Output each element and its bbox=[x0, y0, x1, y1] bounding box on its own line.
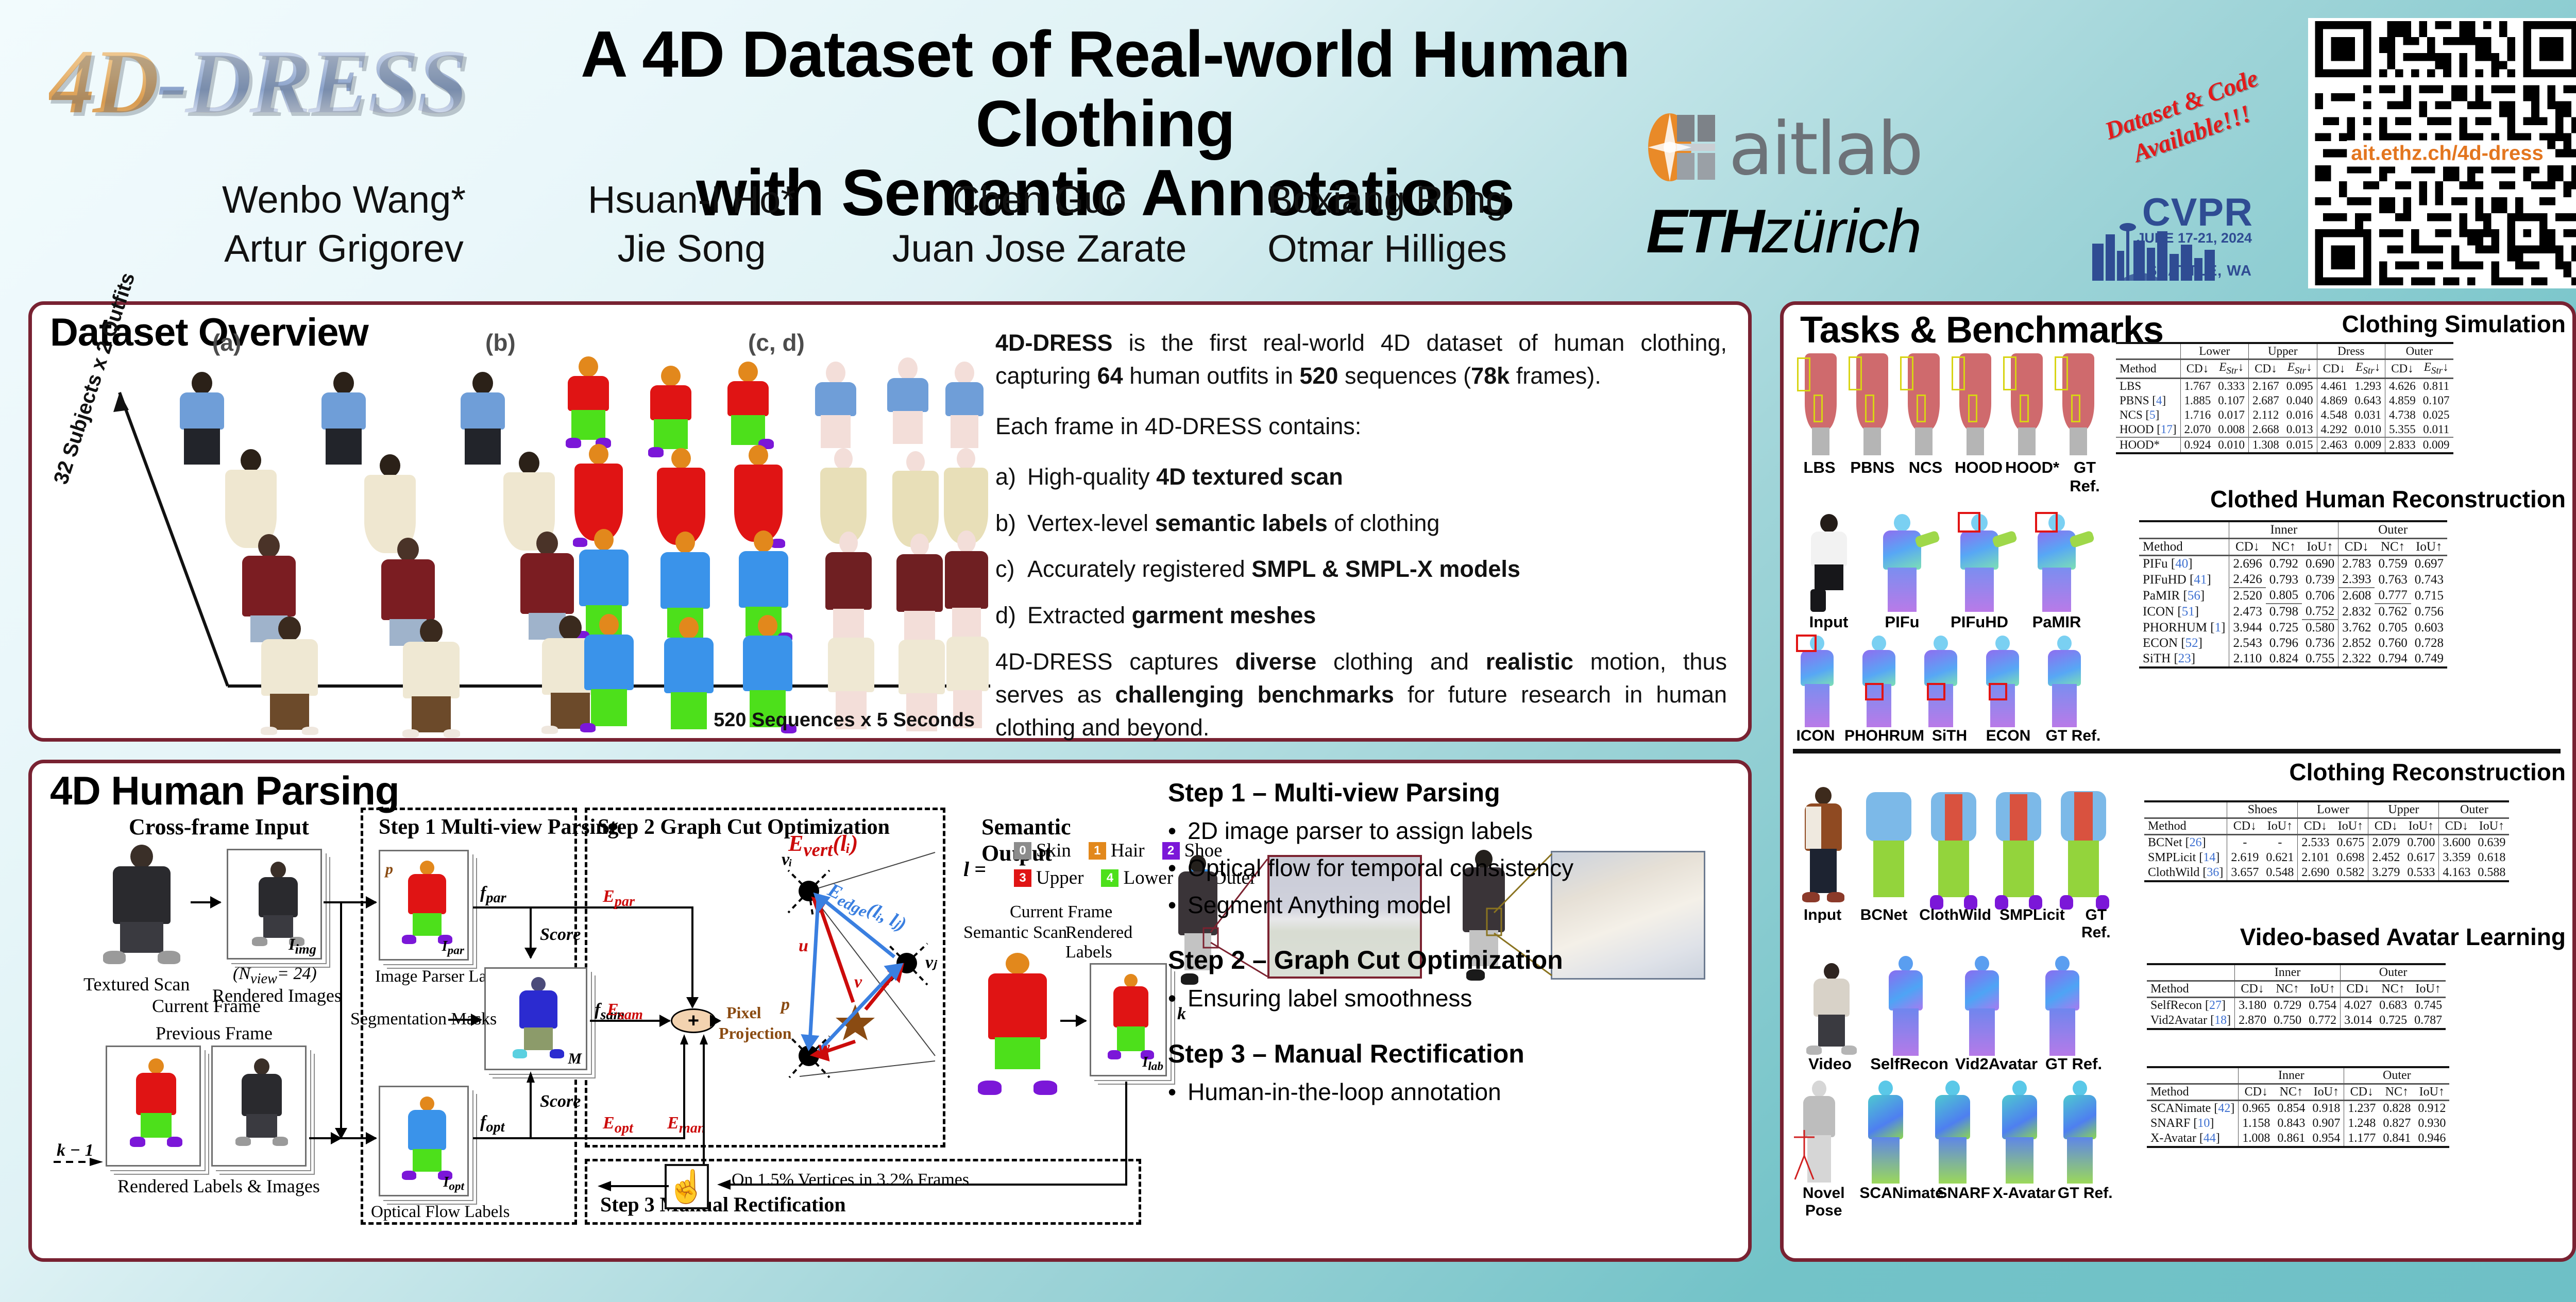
dress-sim-figure bbox=[2053, 345, 2104, 456]
cell: 2.690 bbox=[2298, 865, 2333, 881]
cr-figure-strip bbox=[1793, 784, 2112, 907]
title-line-1: A 4D Dataset of Real-world Human Clothin… bbox=[572, 20, 1638, 158]
bullet: Ensuring label smoothness bbox=[1168, 983, 1745, 1014]
table-row: ECON [52] 2.5430.7960.736 2.8520.7600.72… bbox=[2139, 636, 2447, 651]
val-figure-strip-top bbox=[1794, 948, 2103, 1056]
dress-sim-figure bbox=[1846, 345, 1898, 456]
cell: 2.783 bbox=[2338, 556, 2375, 572]
metric-header: CD↓ bbox=[2229, 539, 2266, 556]
cell: 2.167 bbox=[2249, 378, 2283, 393]
cell: 0.794 bbox=[2375, 651, 2411, 667]
cell: 0.698 bbox=[2333, 850, 2368, 865]
metric-header: CD↓ bbox=[2180, 359, 2214, 379]
overview-sequence-label: 520 Sequences x 5 Seconds bbox=[714, 709, 975, 731]
f-opt-score-arrow bbox=[527, 1071, 537, 1139]
cell: 3.359 bbox=[2439, 850, 2475, 865]
table-row: X-Avatar [44] 1.0080.8610.954 1.1770.841… bbox=[2147, 1131, 2449, 1147]
group-header: Outer bbox=[2344, 1067, 2450, 1084]
cell: 0.930 bbox=[2414, 1116, 2449, 1131]
cell: 1.237 bbox=[2344, 1101, 2380, 1117]
step-title: Step 1 – Multi-view Parsing bbox=[1168, 778, 1745, 808]
step-bullets: 2D image parser to assign labels Optical… bbox=[1168, 816, 1745, 920]
eth-italic: zürich bbox=[1762, 197, 1921, 266]
cell: 4.461 bbox=[2317, 378, 2351, 393]
cursor-hand-icon[interactable]: ☝ bbox=[665, 1164, 709, 1209]
method-cell: HOOD* bbox=[2116, 437, 2180, 453]
figure-semantic bbox=[717, 362, 779, 454]
arrow-to-cursor bbox=[598, 1179, 670, 1193]
strip-label: GT Ref. bbox=[2040, 1055, 2107, 1073]
val-gtref2-figure bbox=[2052, 1081, 2108, 1184]
cell: 2.463 bbox=[2317, 437, 2351, 453]
cell: 0.827 bbox=[2379, 1116, 2414, 1131]
list-item: d) Extracted garment meshes bbox=[995, 599, 1727, 632]
cr-input-figure bbox=[1795, 787, 1852, 905]
table-row: SMPLicit [14] 2.6190.621 2.1010.698 2.45… bbox=[2144, 850, 2509, 865]
cell: 0.040 bbox=[2283, 393, 2317, 408]
n-view-label: (Nview= 24) bbox=[233, 964, 317, 987]
step-bullets: Human-in-the-loop annotation bbox=[1168, 1077, 1745, 1108]
group-header: Lower bbox=[2180, 343, 2249, 359]
legend-label: Upper bbox=[1036, 867, 1083, 889]
semantic-scan-figure bbox=[974, 953, 1061, 1097]
overview-contains-header: Each frame in 4D-DRESS contains: bbox=[995, 410, 1727, 443]
cell: 0.690 bbox=[2302, 556, 2338, 572]
group-header: Inner bbox=[2235, 964, 2341, 981]
cell: 0.011 bbox=[2419, 422, 2453, 437]
metric-header: CD↓ bbox=[2439, 818, 2475, 835]
logo-4d-part: 4D bbox=[49, 30, 157, 132]
mask-figure bbox=[511, 977, 566, 1065]
method-cell: SiTH [23] bbox=[2139, 651, 2229, 667]
val-video-figure bbox=[1798, 963, 1865, 1056]
method-cell: BCNet [26] bbox=[2144, 835, 2227, 851]
chr-strip-labels-bottom: ICON PHOHRUM SiTH ECON GT Ref. bbox=[1787, 727, 2111, 745]
chr-icon-figure bbox=[1789, 636, 1845, 728]
parser-p-marker: p bbox=[385, 861, 393, 878]
author: Artur Grigorev bbox=[170, 227, 518, 270]
list-item: b) Vertex-level semantic labels of cloth… bbox=[995, 507, 1727, 540]
chr-pifu-figure bbox=[1866, 514, 1938, 612]
chr-pifuhd-figure bbox=[1943, 514, 2015, 612]
strip-label: GT Ref. bbox=[2039, 727, 2107, 745]
cell: 0.700 bbox=[2403, 835, 2439, 851]
cell: 2.110 bbox=[2229, 651, 2266, 667]
simulation-figure-strip bbox=[1793, 340, 2112, 458]
wire-Epar-to-sum bbox=[691, 906, 693, 1007]
method-cell: PIFuHD [41] bbox=[2139, 572, 2229, 588]
block-video-avatar-learning: Video-based Avatar Learning bbox=[1788, 923, 2571, 951]
block-heading: Clothed Human Reconstruction bbox=[1788, 485, 2571, 513]
cell: 2.608 bbox=[2338, 588, 2375, 604]
cell: - bbox=[2227, 835, 2263, 851]
cell: 1.293 bbox=[2351, 378, 2385, 393]
cell: 0.759 bbox=[2375, 556, 2411, 572]
chr-sith-figure bbox=[1912, 636, 1969, 728]
method-cell: LBS bbox=[2116, 378, 2180, 393]
cell: 4.859 bbox=[2385, 393, 2419, 408]
step-title: Step 2 – Graph Cut Optimization bbox=[1168, 945, 1745, 975]
legend-swatch: 4 bbox=[1101, 869, 1118, 887]
wire-Eopt-h bbox=[628, 1137, 684, 1139]
cell: 3.180 bbox=[2235, 998, 2270, 1014]
cr-clothwild-figure bbox=[1923, 789, 1985, 907]
val-novelpose-figure bbox=[1791, 1081, 1848, 1184]
table-row: Lower Upper Dress Outer bbox=[2116, 343, 2453, 359]
cell: 0.548 bbox=[2262, 865, 2298, 881]
legend-row: 0Skin 1Hair 2Shoe bbox=[1014, 840, 1144, 862]
overview-n-frames: 78k bbox=[1471, 363, 1510, 389]
step-title: Step 3 – Manual Rectification bbox=[1168, 1039, 1745, 1069]
cell: 0.752 bbox=[2302, 604, 2338, 620]
method-header: Method bbox=[2139, 539, 2229, 556]
arrow-to-optflow bbox=[340, 1137, 376, 1139]
legend-swatch: 3 bbox=[1014, 869, 1031, 887]
figure-scan bbox=[449, 372, 516, 465]
metric-header: IoU↑ bbox=[2474, 818, 2509, 835]
block-clothed-human-reconstruction: Clothed Human Reconstruction bbox=[1788, 485, 2571, 513]
chr-input-figure bbox=[1798, 514, 1860, 612]
tasks-benchmarks-panel: Tasks & Benchmarks Clothing Simulation bbox=[1780, 301, 2576, 1262]
cell: 0.009 bbox=[2351, 437, 2385, 453]
cell: 3.657 bbox=[2227, 865, 2263, 881]
cell: 2.426 bbox=[2229, 572, 2266, 588]
sym-iopt: Iopt bbox=[443, 1174, 464, 1194]
table-row: PBNS [4] 1.8850.107 2.6870.040 4.8690.64… bbox=[2116, 393, 2453, 408]
parsing-pipeline-diagram: Cross-frame Input Step 1 Multi-view Pars… bbox=[41, 803, 1144, 1257]
table-video-avatar-1: Inner Outer Method CD↓NC↑IoU↑ CD↓NC↑IoU↑… bbox=[2147, 963, 2446, 1030]
strip-label: ICON bbox=[1787, 727, 1844, 745]
cell: 2.079 bbox=[2368, 835, 2404, 851]
table-row: PHORHUM [1] 3.9440.7250.580 3.7620.7050.… bbox=[2139, 620, 2447, 636]
method-cell: SMPLicit [14] bbox=[2144, 850, 2227, 865]
author: Jie Song bbox=[518, 227, 866, 270]
val-xavatar-figure bbox=[1989, 1081, 2050, 1184]
cell: 0.580 bbox=[2302, 620, 2338, 636]
overview-item-list: a) High-quality 4D textured scan b) Vert… bbox=[995, 460, 1727, 632]
cvpr-title: CVPR bbox=[2142, 190, 2253, 235]
previous-frame-label: Previous Frame bbox=[156, 1022, 273, 1044]
arrow-scan-to-render-labels bbox=[1060, 1020, 1086, 1022]
method-cell: SNARF [10] bbox=[2147, 1116, 2239, 1131]
cell: 0.841 bbox=[2379, 1131, 2414, 1147]
cell: 0.009 bbox=[2419, 437, 2453, 453]
cell: 0.675 bbox=[2333, 835, 2368, 851]
table-row: Inner Outer bbox=[2139, 521, 2447, 539]
metric-header: CD↓ bbox=[2249, 359, 2283, 379]
val-figure-strip-bottom bbox=[1789, 1077, 2108, 1186]
metric-header: IoU↑ bbox=[2411, 981, 2446, 998]
method-cell: PIFu [40] bbox=[2139, 556, 2229, 572]
cell: 3.279 bbox=[2368, 865, 2404, 881]
table-row: Method CD↓IoU↑ CD↓IoU↑ CD↓IoU↑ CD↓IoU↑ bbox=[2144, 818, 2509, 835]
cell: 0.749 bbox=[2411, 651, 2447, 667]
cell: 0.796 bbox=[2266, 636, 2302, 651]
table-row: SelfRecon [27] 3.1800.7290.754 4.0270.68… bbox=[2147, 998, 2446, 1014]
item-marker: c) bbox=[995, 553, 1019, 586]
v-j-label: vⱼ bbox=[925, 952, 936, 972]
method-cell: Vid2Avatar [18] bbox=[2147, 1013, 2235, 1029]
table-row: HOOD [17] 2.0700.008 2.6680.013 4.2920.0… bbox=[2116, 422, 2453, 437]
metric-header: CD↓ bbox=[2239, 1084, 2274, 1101]
author: Otmar Hilliges bbox=[1213, 227, 1561, 270]
cell: 0.728 bbox=[2411, 636, 2447, 651]
metric-header: IoU↑ bbox=[2411, 539, 2447, 556]
cell: 0.745 bbox=[2411, 998, 2446, 1014]
table-clothing-simulation: Lower Upper Dress Outer Method CD↓EStr↓ … bbox=[2116, 342, 2453, 454]
metric-header: NC↑ bbox=[2270, 981, 2305, 998]
group-header: Outer bbox=[2341, 964, 2446, 981]
cell: 0.918 bbox=[2309, 1101, 2344, 1117]
group-header: Outer bbox=[2439, 801, 2510, 818]
metric-header: CD↓ bbox=[2385, 359, 2419, 379]
cell: 0.705 bbox=[2375, 620, 2411, 636]
cell: 3.600 bbox=[2439, 835, 2475, 851]
legend-entry-hair: 1Hair bbox=[1089, 840, 1145, 862]
current-frame-label-2: Current Frame bbox=[1010, 902, 1112, 922]
rendered-labels-label: Rendered Labels bbox=[1065, 923, 1144, 962]
group-header: Inner bbox=[2229, 521, 2338, 539]
feedback-loop-wire bbox=[709, 1082, 1131, 1193]
cell: 2.533 bbox=[2298, 835, 2333, 851]
group-header: Upper bbox=[2249, 343, 2317, 359]
cell: 2.112 bbox=[2249, 408, 2283, 422]
E-vert-label: Evert(lᵢ) bbox=[788, 830, 858, 861]
metric-header: IoU↑ bbox=[2305, 981, 2341, 998]
overview-n-outfits: 64 bbox=[1097, 363, 1123, 389]
val-strip-labels-top: Video SelfRecon Vid2Avatar GT Ref. bbox=[1794, 1055, 2113, 1073]
cell: 3.762 bbox=[2338, 620, 2375, 636]
cell: 0.697 bbox=[2411, 556, 2447, 572]
item-marker: a) bbox=[995, 460, 1019, 493]
table-clothed-human-reconstruction: Inner Outer Method CD↓NC↑IoU↑ CD↓NC↑IoU↑… bbox=[2139, 520, 2447, 669]
table-row: SiTH [23] 2.1100.8240.755 2.3220.7940.74… bbox=[2139, 651, 2447, 667]
qr-code[interactable]: ait.ethz.ch/4d-dress bbox=[2308, 18, 2576, 288]
cell: 0.107 bbox=[2419, 393, 2453, 408]
cell: 0.739 bbox=[2302, 572, 2338, 588]
f-par-label: fpar bbox=[480, 883, 506, 906]
cell: 0.095 bbox=[2283, 378, 2317, 393]
method-cell: PBNS [4] bbox=[2116, 393, 2180, 408]
image-parser-card: Ipar p bbox=[379, 850, 469, 961]
table-video-avatar-2: Inner Outer Method CD↓NC↑IoU↑ CD↓NC↑IoU↑… bbox=[2147, 1066, 2449, 1148]
f-opt-wire bbox=[473, 1137, 628, 1139]
aitlab-wordmark: aitlab bbox=[1728, 107, 1922, 192]
cell: 0.725 bbox=[2266, 620, 2302, 636]
cell: 2.452 bbox=[2368, 850, 2404, 865]
cell: 0.793 bbox=[2266, 572, 2302, 588]
chr-econ-figure bbox=[1974, 636, 2031, 728]
chr-figure-strip-bottom bbox=[1787, 633, 2106, 729]
step3-caption: Step 3 Manual Rectification bbox=[600, 1192, 846, 1217]
table-row: SNARF [10] 1.1580.8430.907 1.2480.8270.9… bbox=[2147, 1116, 2449, 1131]
cell: 0.854 bbox=[2274, 1101, 2309, 1117]
figure-semantic bbox=[573, 614, 645, 732]
cr-gtref-figure bbox=[2053, 788, 2114, 906]
legend-entry-upper: 3Upper bbox=[1014, 867, 1083, 889]
overview-description: 4D-DRESS is the first real-world 4D data… bbox=[995, 327, 1727, 762]
cell: 2.687 bbox=[2249, 393, 2283, 408]
method-cell: X-Avatar [44] bbox=[2147, 1131, 2239, 1147]
bullet: Human-in-the-loop annotation bbox=[1168, 1077, 1745, 1108]
rendered-labels-card: Ilab bbox=[1090, 963, 1167, 1076]
semantic-legend: l = 0Skin 1Hair 2Shoe 3Upper 4Lower 5Out… bbox=[963, 840, 1144, 894]
cross-frame-input-caption: Cross-frame Input bbox=[129, 814, 309, 840]
cell: 5.355 bbox=[2385, 422, 2419, 437]
cell: 2.696 bbox=[2229, 556, 2266, 572]
table-row: Method CD↓EStr↓ CD↓EStr↓ CD↓EStr↓ CD↓ESt… bbox=[2116, 359, 2453, 379]
aitlab-mark-icon bbox=[1646, 112, 1718, 183]
legend-label: Lower bbox=[1123, 867, 1173, 889]
cell: 2.520 bbox=[2229, 588, 2266, 604]
aitlab-logo: aitlab bbox=[1646, 111, 2027, 183]
cell: - bbox=[2262, 835, 2298, 851]
cell: 0.008 bbox=[2214, 422, 2248, 437]
cell: 0.965 bbox=[2239, 1101, 2274, 1117]
method-header: Method bbox=[2144, 818, 2227, 835]
cell: 1.158 bbox=[2239, 1116, 2274, 1131]
table-row: SCANimate [42] 0.9650.8540.918 1.2370.82… bbox=[2147, 1101, 2449, 1117]
author: Wenbo Wang* bbox=[170, 178, 518, 221]
strip-label: PHOHRUM bbox=[1844, 727, 1922, 745]
optical-flow-card: Iopt bbox=[379, 1086, 469, 1196]
metric-header: EStr↓ bbox=[2283, 359, 2317, 379]
E-sam-label: Esam bbox=[607, 1000, 643, 1023]
cell: 4.869 bbox=[2317, 393, 2351, 408]
render-figure bbox=[233, 1058, 290, 1156]
cell: 0.017 bbox=[2214, 408, 2248, 422]
cell: 0.861 bbox=[2274, 1131, 2309, 1147]
cell: 0.946 bbox=[2414, 1131, 2449, 1147]
cell: 0.683 bbox=[2376, 998, 2411, 1014]
f-opt-label: fopt bbox=[480, 1112, 505, 1136]
dress-sim-figure bbox=[1898, 345, 1950, 456]
legend-label: Hair bbox=[1111, 840, 1145, 862]
strip-label: SNARF bbox=[1936, 1185, 1991, 1220]
legend-row: 3Upper 4Lower 5Outer bbox=[1014, 867, 1144, 889]
cell: 2.833 bbox=[2385, 437, 2419, 453]
table-row: LBS 1.7670.333 2.1670.095 4.4611.293 4.6… bbox=[2116, 378, 2453, 393]
method-cell: PHORHUM [1] bbox=[2139, 620, 2229, 636]
overview-closing: 4D-DRESS captures diverse clothing and r… bbox=[995, 645, 1727, 744]
logo-4d-dress: 4D-DRESS bbox=[49, 28, 564, 147]
cell: 0.025 bbox=[2419, 408, 2453, 422]
method-cell: PaMIR [56] bbox=[2139, 588, 2229, 604]
chr-figure-strip-top bbox=[1794, 511, 2098, 614]
val-snarf-figure bbox=[1922, 1081, 1984, 1184]
cr-smplicit-figure bbox=[1988, 789, 2049, 907]
metric-header: CD↓ bbox=[2298, 818, 2333, 835]
method-cell: ICON [51] bbox=[2139, 604, 2229, 620]
author-list: Wenbo Wang* Hsuan-I Ho* Chen Guo Boxiang… bbox=[170, 178, 1561, 270]
dress-sim-figure bbox=[1950, 345, 2001, 456]
cell: 0.828 bbox=[2379, 1101, 2414, 1117]
cell: 0.843 bbox=[2274, 1116, 2309, 1131]
cell: 1.008 bbox=[2239, 1131, 2274, 1147]
strip-label: SCANimate bbox=[1859, 1185, 1936, 1220]
p-label: p bbox=[781, 995, 790, 1015]
score-label-bottom: Score bbox=[540, 1092, 581, 1111]
eth-bold: ETH bbox=[1646, 197, 1762, 266]
cell: 0.010 bbox=[2351, 422, 2385, 437]
cell: 0.643 bbox=[2351, 393, 2385, 408]
sym-ilab: Ilab bbox=[1142, 1054, 1163, 1074]
cell: 0.750 bbox=[2270, 1013, 2305, 1029]
previous-labels-card bbox=[106, 1046, 201, 1167]
cell: 0.798 bbox=[2266, 604, 2302, 620]
cell: 2.870 bbox=[2235, 1013, 2270, 1029]
author: Juan Jose Zarate bbox=[866, 227, 1213, 270]
cell: 0.954 bbox=[2309, 1131, 2344, 1147]
figure-smpl bbox=[939, 362, 990, 454]
cell: 0.743 bbox=[2411, 572, 2447, 588]
cell: 2.619 bbox=[2227, 850, 2263, 865]
overview-intro-mid1: human outfits in bbox=[1123, 363, 1300, 389]
cell: 4.292 bbox=[2317, 422, 2351, 437]
rendered-labels-images-label: Rendered Labels & Images bbox=[117, 1175, 320, 1197]
E-opt-label: Eopt bbox=[603, 1113, 633, 1137]
metric-header: IoU↑ bbox=[2262, 818, 2298, 835]
chr-strip-labels-top: Input PIFu PIFuHD PaMIR bbox=[1794, 613, 2098, 631]
cell: 0.603 bbox=[2411, 620, 2447, 636]
cell: 0.621 bbox=[2262, 850, 2298, 865]
group-header: Outer bbox=[2338, 521, 2447, 539]
cell: 4.738 bbox=[2385, 408, 2419, 422]
method-cell: ECON [52] bbox=[2139, 636, 2229, 651]
legend-swatch: 1 bbox=[1089, 842, 1106, 860]
cell: 0.924 bbox=[2180, 437, 2214, 453]
strip-label: X-Avatar bbox=[1991, 1185, 2057, 1220]
sym-iimg: Iimg bbox=[289, 935, 316, 957]
w-label: w bbox=[818, 1038, 830, 1057]
table-row: Method CD↓NC↑IoU↑ CD↓NC↑IoU↑ bbox=[2147, 981, 2446, 998]
cell: 0.763 bbox=[2375, 572, 2411, 588]
strip-label: Input bbox=[1794, 613, 1863, 631]
cell: 4.027 bbox=[2341, 998, 2376, 1014]
cell: 0.715 bbox=[2411, 588, 2447, 604]
human-parsing-panel: 4D Human Parsing Cross-frame Input Step … bbox=[28, 760, 1752, 1262]
cell: 0.760 bbox=[2375, 636, 2411, 651]
score-label-top: Score bbox=[540, 925, 581, 945]
cell: 4.163 bbox=[2439, 865, 2475, 881]
strip-label: PIFuHD bbox=[1941, 613, 2018, 631]
skeleton-icon bbox=[1791, 1128, 1820, 1184]
overview-intro-mid2: sequences ( bbox=[1338, 363, 1471, 389]
cvpr-city: SEATTLE, WA bbox=[2147, 263, 2252, 280]
legend-l-equals: l = bbox=[963, 857, 986, 881]
cell: 1.248 bbox=[2344, 1116, 2380, 1131]
cell: 0.762 bbox=[2375, 604, 2411, 620]
cell: 1.767 bbox=[2180, 378, 2214, 393]
metric-header: CD↓ bbox=[2235, 981, 2270, 998]
metric-header: NC↑ bbox=[2274, 1084, 2309, 1101]
cell: 0.756 bbox=[2411, 604, 2447, 620]
bullet: Optical flow for temporal consistency bbox=[1168, 853, 1745, 884]
metric-header: IoU↑ bbox=[2414, 1084, 2449, 1101]
cell: 0.755 bbox=[2302, 651, 2338, 667]
arrow-masks-in bbox=[448, 1019, 481, 1021]
method-cell: HOOD [17] bbox=[2116, 422, 2180, 437]
cell: 4.548 bbox=[2317, 408, 2351, 422]
table-row: Method CD↓NC↑IoU↑ CD↓NC↑IoU↑ bbox=[2147, 1084, 2449, 1101]
cell: 0.582 bbox=[2333, 865, 2368, 881]
table-row: BCNet [26] -- 2.5330.675 2.0790.700 3.60… bbox=[2144, 835, 2509, 851]
step1-caption: Step 1 Multi-view Parsing bbox=[379, 815, 618, 840]
cell: 0.772 bbox=[2305, 1013, 2341, 1029]
cell: 0.015 bbox=[2283, 437, 2317, 453]
chr-gtref-figure bbox=[2036, 636, 2093, 728]
cell: 2.101 bbox=[2298, 850, 2333, 865]
